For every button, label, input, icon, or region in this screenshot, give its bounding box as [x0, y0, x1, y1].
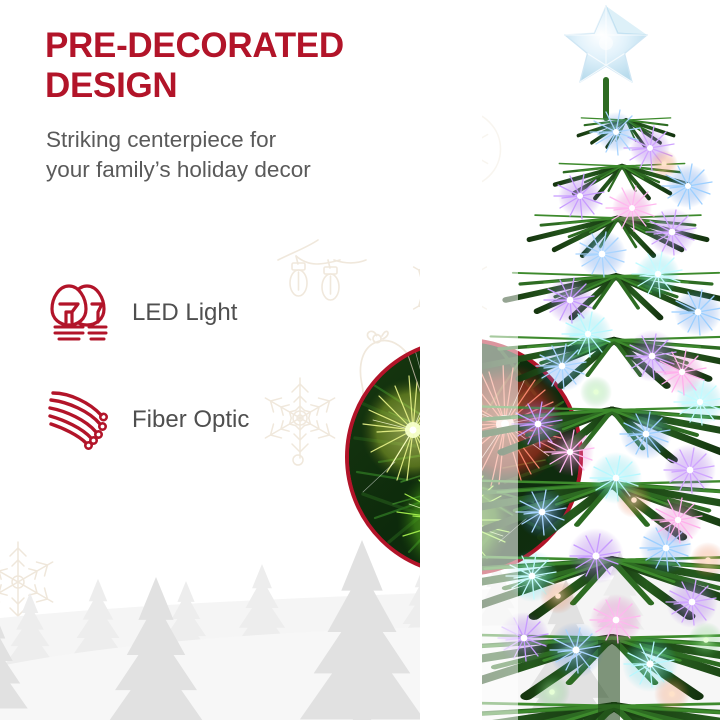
christmas-bulbs-icon — [44, 276, 118, 350]
headline-line-1: PRE-DECORATED — [45, 26, 405, 66]
headline-line-2: DESIGN — [45, 66, 405, 106]
subtitle: Striking centerpiece for your family’s h… — [46, 125, 396, 185]
page-title: PRE-DECORATED DESIGN — [45, 26, 405, 105]
subtitle-line-2: your family’s holiday decor — [46, 155, 396, 185]
fiber-optic-strands-icon — [44, 383, 118, 457]
feature-label: Fiber Optic — [132, 406, 249, 434]
string-lights-watermark — [276, 238, 368, 320]
fiber-optic-christmas-tree-photo — [420, 0, 720, 720]
snowflake-watermark-lower — [252, 372, 356, 484]
feature-led-light: LED Light — [44, 276, 237, 350]
promo-banner: PRE-DECORATED DESIGN Striking centerpiec… — [0, 0, 720, 720]
subtitle-line-1: Striking centerpiece for — [46, 125, 396, 155]
feature-fiber-optic: Fiber Optic — [44, 383, 249, 457]
feature-label: LED Light — [132, 299, 237, 327]
